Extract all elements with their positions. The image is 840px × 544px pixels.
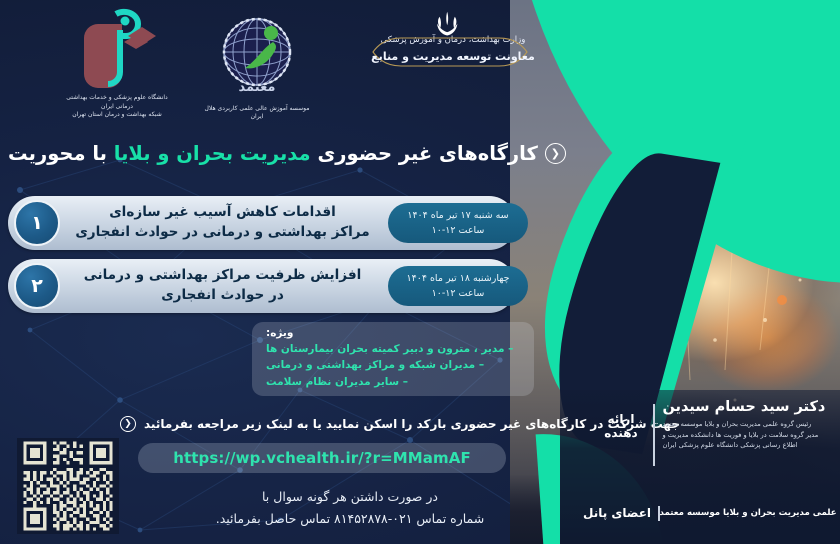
- iran-emblem-icon: وزارت بهداشت، درمان و آموزش پزشکی معاونت…: [345, 8, 560, 70]
- target-audience-box: ویژه: – مدیر ، مترون و دبیر کمیته بحران …: [252, 322, 534, 396]
- workshop-title-line1: افزایش ظرفیت مراکز بهداشتی و درمانی: [66, 266, 379, 286]
- title-accent: مدیریت بحران و بلایا: [114, 142, 311, 165]
- panel-members-value: مدرسین گروه علمی مدیریت بحران و بلایا مو…: [660, 508, 840, 518]
- logo-ministry-of-health: وزارت بهداشت، درمان و آموزش پزشکی معاونت…: [345, 8, 560, 118]
- iums-emblem-icon: [58, 8, 176, 94]
- workshop-title: افزایش ظرفیت مراکز بهداشتی و درمانی در ح…: [62, 266, 383, 305]
- chevron-left-icon: ❮: [545, 143, 566, 164]
- workshop-list: ۱ اقدامات کاهش آسیب غیر سازه‌ای مراکز به…: [8, 196, 528, 322]
- ministry-line2-text: معاونت توسعه مدیریت و منابع: [371, 50, 535, 63]
- registration-instruction: ❮ جهت شرکت در کارگاه‌های غیر حضوری بارکد…: [120, 413, 540, 435]
- audience-item: – مدیران شبکه و مراکز بهداشتی و درمانی: [262, 357, 520, 373]
- chevron-left-icon: ❮: [120, 416, 136, 432]
- workshop-time: ساعت ۱۲-۱۰: [432, 223, 485, 238]
- iums-caption: دانشگاه علوم پزشکی و خدمات بهداشتی درمان…: [58, 94, 176, 120]
- title-suffix: با محوریت: [8, 142, 107, 165]
- presenter-details: دکتر سید حسام سیدین رئیس گروه علمی مدیری…: [661, 398, 834, 451]
- audience-item: – مدیر ، مترون و دبیر کمیته بحران بیمارس…: [262, 341, 520, 357]
- contact-line2: شماره تماس ۰۲۱-۸۱۴۵۲۸۷۸ تماس حاصل بفرمائ…: [150, 508, 550, 530]
- presenter-credential-line1: رئیس گروه علمی مدیریت بحران و بلایا موسس…: [663, 419, 834, 430]
- workshop-number-badge: ۱: [14, 200, 60, 246]
- presenter-name: دکتر سید حسام سیدین: [663, 398, 834, 417]
- motamed-caption: موسسه آموزش عالی علمی کاربردی هلال ایران: [203, 105, 311, 122]
- logo-iran-university-of-medical-sciences: دانشگاه علوم پزشکی و خدمات بهداشتی درمان…: [58, 8, 176, 120]
- workshop-time: ساعت ۱۲-۱۰: [432, 286, 485, 301]
- workshop-date: چهارشنبه ۱۸ تیر ماه ۱۴۰۴: [407, 271, 510, 286]
- motamed-globe-icon: معتمد: [203, 10, 311, 98]
- svg-text:معتمد: معتمد: [239, 80, 276, 95]
- workshop-date-pill: سه شنبه ۱۷ تیر ماه ۱۴۰۴ ساعت ۱۲-۱۰: [388, 203, 528, 243]
- qr-code-icon[interactable]: [17, 438, 119, 534]
- panel-divider: [658, 506, 660, 521]
- audience-heading: ویژه:: [262, 327, 520, 339]
- ministry-line1-text: وزارت بهداشت، درمان و آموزش پزشکی: [381, 33, 526, 45]
- workshop-date-pill: چهارشنبه ۱۸ تیر ماه ۱۴۰۴ ساعت ۱۲-۱۰: [388, 266, 528, 306]
- presenter-role-label: ارائه دهنده: [595, 398, 647, 440]
- contact-line1: در صورت داشتن هر گونه سوال با: [150, 486, 550, 508]
- iums-caption-line2: شبکه بهداشت و درمان استان تهران: [58, 111, 176, 120]
- registration-url-pill[interactable]: https://wp.vchealth.ir/?r=MMamAF: [138, 443, 506, 473]
- registration-url[interactable]: https://wp.vchealth.ir/?r=MMamAF: [173, 449, 471, 467]
- header-logos: دانشگاه علوم پزشکی و خدمات بهداشتی درمان…: [0, 0, 600, 128]
- panel-members-label: اعضای پانل: [576, 506, 651, 520]
- event-poster: دانشگاه علوم پزشکی و خدمات بهداشتی درمان…: [0, 0, 840, 544]
- audience-item: – سایر مدیران نظام سلامت: [262, 374, 520, 390]
- workshop-row[interactable]: ۲ افزایش ظرفیت مراکز بهداشتی و درمانی در…: [8, 259, 528, 313]
- motamed-caption-line2: موسسه آموزش عالی علمی کاربردی هلال ایران: [203, 105, 311, 122]
- workshop-title-line2: مراکز بهداشتی و درمانی در حوادث انفجاری: [66, 223, 379, 243]
- presenter-divider: [653, 404, 655, 466]
- contact-info: در صورت داشتن هر گونه سوال با شماره تماس…: [150, 486, 550, 530]
- page-title: ❮ کارگاه‌های غیر حضوری مدیریت بحران و بل…: [0, 131, 540, 175]
- title-prefix: کارگاه‌های غیر حضوری: [317, 142, 537, 165]
- logo-motamed-institute: معتمد موسسه آموزش عالی علمی کاربردی هلال…: [203, 10, 311, 122]
- title-text: کارگاه‌های غیر حضوری مدیریت بحران و بلای…: [8, 142, 538, 165]
- presenter-block: ارائه دهنده دکتر سید حسام سیدین رئیس گرو…: [595, 398, 833, 480]
- workshop-title: اقدامات کاهش آسیب غیر سازه‌ای مراکز بهدا…: [62, 203, 383, 242]
- presenter-credential-line2: مدیر گروه سلامت در بلایا و فوریت ها دانش…: [663, 430, 834, 441]
- presenter-credential-line3: اطلاع رسانی پزشکی دانشگاه علوم پزشکی ایر…: [663, 440, 834, 451]
- workshop-date: سه شنبه ۱۷ تیر ماه ۱۴۰۴: [407, 208, 508, 223]
- workshop-title-line2: در حوادث انفجاری: [66, 286, 379, 306]
- workshop-title-line1: اقدامات کاهش آسیب غیر سازه‌ای: [66, 203, 379, 223]
- workshop-number-badge: ۲: [14, 263, 60, 309]
- iums-caption-line1: دانشگاه علوم پزشکی و خدمات بهداشتی درمان…: [58, 94, 176, 111]
- panel-members-block: اعضای پانل مدرسین گروه علمی مدیریت بحران…: [576, 500, 834, 526]
- workshop-row[interactable]: ۱ اقدامات کاهش آسیب غیر سازه‌ای مراکز به…: [8, 196, 528, 250]
